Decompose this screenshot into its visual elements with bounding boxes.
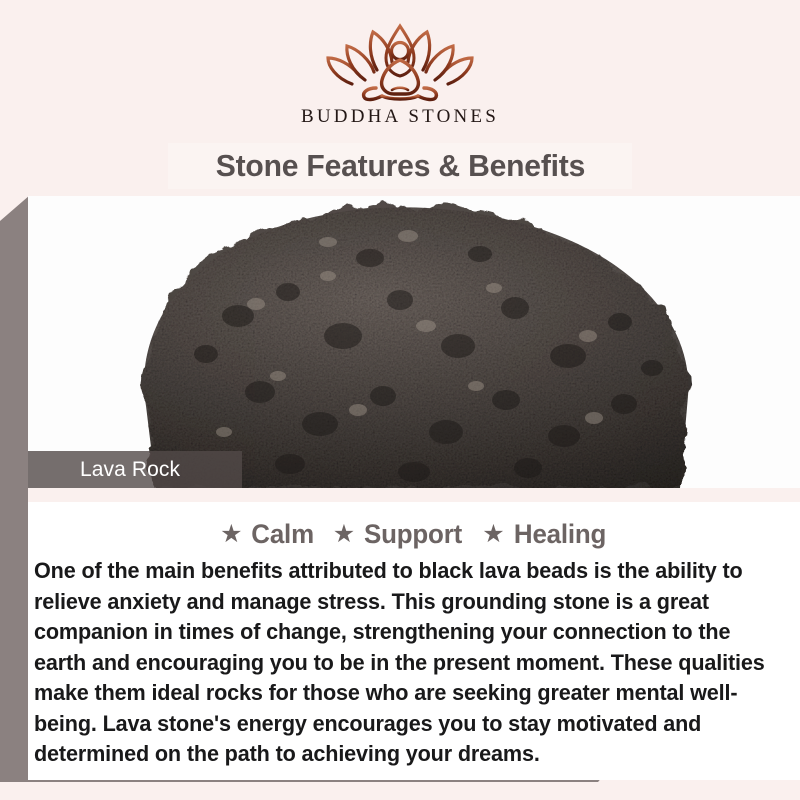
title-banner: Stone Features & Benefits — [168, 143, 632, 189]
benefits-row: ★ Calm ★ Support ★ Healing — [28, 512, 800, 556]
photo-caption-bar: Lava Rock — [28, 451, 242, 488]
benefit-label: Support — [364, 519, 462, 550]
body-paragraph: One of the main benefits attributed to b… — [34, 556, 777, 770]
benefit-item-healing: ★ Healing — [482, 519, 608, 550]
star-icon: ★ — [482, 522, 504, 547]
brand-logo: BUDDHA STONES — [0, 18, 800, 128]
page-title: Stone Features & Benefits — [215, 148, 584, 184]
star-icon: ★ — [220, 522, 242, 547]
star-icon: ★ — [333, 522, 355, 547]
benefit-item-calm: ★ Calm — [220, 519, 315, 550]
photo-caption: Lava Rock — [28, 458, 180, 482]
poster-canvas: BUDDHA STONES Stone Features & Benefits — [0, 0, 800, 800]
lotus-meditation-figure-icon — [316, 18, 484, 104]
lava-rock-photo: Lava Rock — [28, 196, 800, 488]
benefit-item-support: ★ Support — [333, 519, 465, 550]
rock-illustration — [28, 196, 800, 488]
brand-name: BUDDHA STONES — [301, 106, 499, 128]
frame-band-left — [0, 195, 30, 780]
photo-separator — [28, 488, 800, 502]
benefit-label: Calm — [251, 519, 314, 550]
benefit-label: Healing — [514, 519, 606, 550]
